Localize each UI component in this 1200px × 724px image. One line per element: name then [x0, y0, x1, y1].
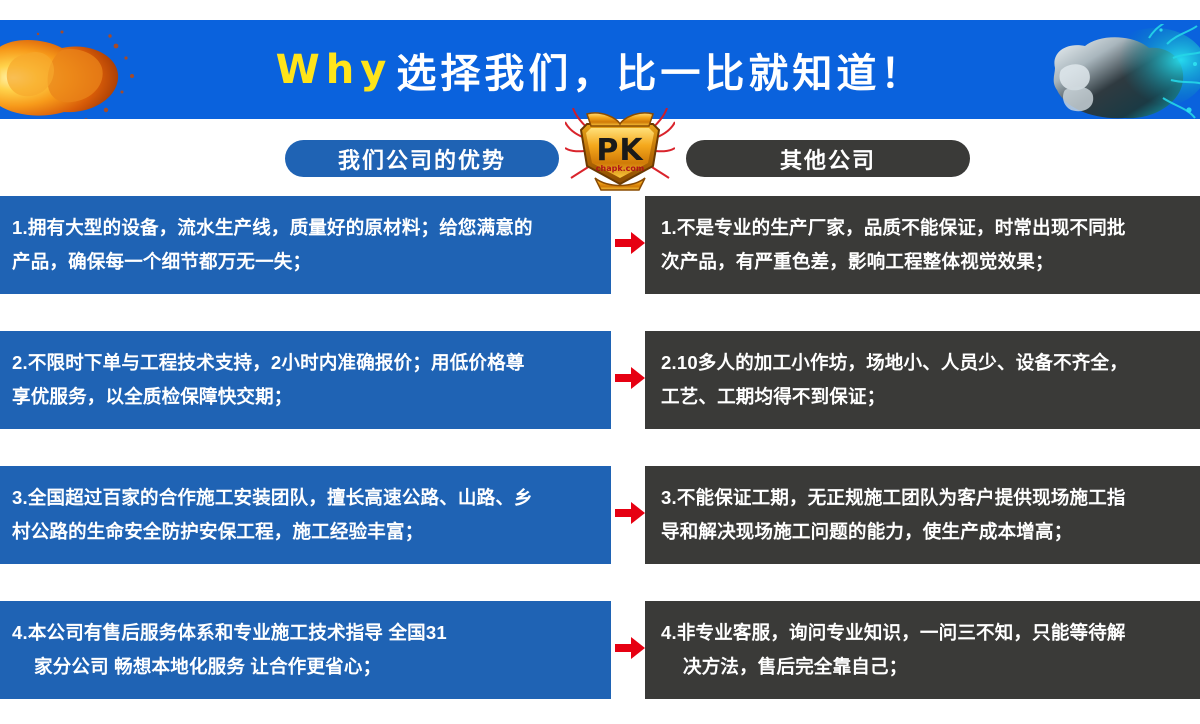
arrow-right-icon	[615, 500, 645, 526]
banner-title: Why 选择我们，比一比就知道！	[0, 20, 1200, 119]
arrow-right-icon	[615, 635, 645, 661]
ours-cell: 4.本公司有售后服务体系和专业施工技术指导 全国31 家分公司 畅想本地化服务 …	[0, 601, 611, 699]
arrow-right-icon	[615, 230, 645, 256]
comparison-row: 2.不限时下单与工程技术支持，2小时内准确报价；用低价格尊 享优服务，以全质检保…	[0, 331, 1200, 429]
others-cell: 3.不能保证工期，无正规施工团队为客户提供现场施工指 导和解决现场施工问题的能力…	[645, 466, 1200, 564]
comparison-row: 4.本公司有售后服务体系和专业施工技术指导 全国31 家分公司 畅想本地化服务 …	[0, 601, 1200, 699]
svg-text:PK: PK	[596, 133, 644, 168]
others-line-2: 导和解决现场施工问题的能力，使生产成本增高；	[661, 515, 1186, 549]
header-banner: Why 选择我们，比一比就知道！	[0, 20, 1200, 119]
ours-cell: 2.不限时下单与工程技术支持，2小时内准确报价；用低价格尊 享优服务，以全质检保…	[0, 331, 611, 429]
column-header-ours[interactable]: 我们公司的优势	[285, 140, 559, 177]
column-header-ours-label: 我们公司的优势	[338, 143, 506, 175]
ours-line-2: 村公路的生命安全防护安保工程，施工经验丰富；	[12, 515, 597, 549]
pk-logo-icon: PK chapk.com	[565, 108, 675, 192]
others-line-1: 2.10多人的加工小作坊，场地小、人员少、设备不齐全，	[661, 346, 1186, 380]
others-line-1: 1.不是专业的生产厂家，品质不能保证，时常出现不同批	[661, 211, 1186, 245]
ours-line-2: 享优服务，以全质检保障快交期；	[12, 380, 597, 414]
column-header-others-label: 其他公司	[780, 143, 876, 175]
ours-line-1: 2.不限时下单与工程技术支持，2小时内准确报价；用低价格尊	[12, 346, 597, 380]
others-line-2: 工艺、工期均得不到保证；	[661, 380, 1186, 414]
others-line-1: 4.非专业客服，询问专业知识，一问三不知，只能等待解	[661, 616, 1186, 650]
svg-text:chapk.com: chapk.com	[596, 164, 645, 173]
ours-line-2: 产品，确保每一个细节都万无一失；	[12, 245, 597, 279]
comparison-row: 3.全国超过百家的合作施工安装团队，擅长高速公路、山路、乡 村公路的生命安全防护…	[0, 466, 1200, 564]
others-cell: 2.10多人的加工小作坊，场地小、人员少、设备不齐全， 工艺、工期均得不到保证；	[645, 331, 1200, 429]
banner-title-highlight: Why	[276, 47, 397, 93]
others-cell: 4.非专业客服，询问专业知识，一问三不知，只能等待解 决方法，售后完全靠自己；	[645, 601, 1200, 699]
others-line-1: 3.不能保证工期，无正规施工团队为客户提供现场施工指	[661, 481, 1186, 515]
banner-title-rest: 选择我们，比一比就知道！	[396, 41, 924, 99]
ours-line-1: 3.全国超过百家的合作施工安装团队，擅长高速公路、山路、乡	[12, 481, 597, 515]
comparison-page: Why 选择我们，比一比就知道！ 我们公司的优势 其他公司	[0, 0, 1200, 724]
ours-cell: 1.拥有大型的设备，流水生产线，质量好的原材料；给您满意的 产品，确保每一个细节…	[0, 196, 611, 294]
comparison-rows: 1.拥有大型的设备，流水生产线，质量好的原材料；给您满意的 产品，确保每一个细节…	[0, 196, 1200, 724]
column-header-others[interactable]: 其他公司	[686, 140, 970, 177]
others-cell: 1.不是专业的生产厂家，品质不能保证，时常出现不同批 次产品，有严重色差，影响工…	[645, 196, 1200, 294]
ours-line-2: 家分公司 畅想本地化服务 让合作更省心；	[12, 650, 597, 684]
arrow-right-icon	[615, 365, 645, 391]
ours-line-1: 1.拥有大型的设备，流水生产线，质量好的原材料；给您满意的	[12, 211, 597, 245]
ours-line-1: 4.本公司有售后服务体系和专业施工技术指导 全国31	[12, 616, 597, 650]
others-line-2: 次产品，有严重色差，影响工程整体视觉效果；	[661, 245, 1186, 279]
others-line-2: 决方法，售后完全靠自己；	[661, 650, 1186, 684]
comparison-row: 1.拥有大型的设备，流水生产线，质量好的原材料；给您满意的 产品，确保每一个细节…	[0, 196, 1200, 294]
ours-cell: 3.全国超过百家的合作施工安装团队，擅长高速公路、山路、乡 村公路的生命安全防护…	[0, 466, 611, 564]
